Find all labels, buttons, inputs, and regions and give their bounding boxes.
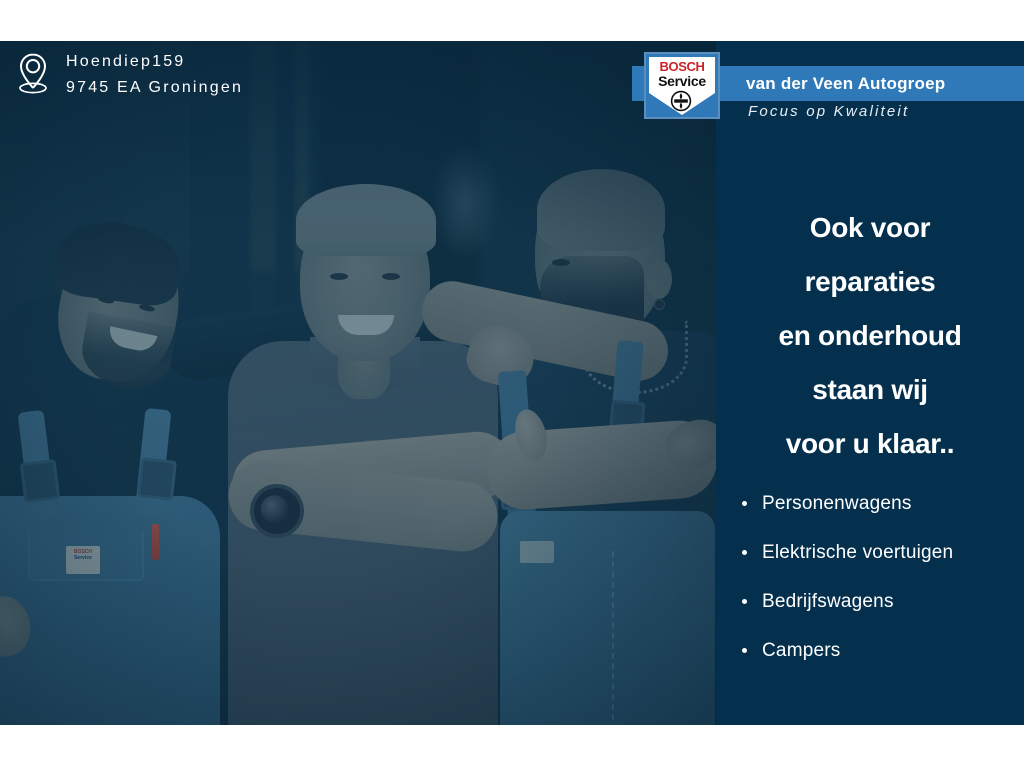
address-city: 9745 EA Groningen — [66, 75, 243, 101]
mechanic-right-overalls-seam — [612, 551, 614, 725]
mechanic-center-hair — [296, 184, 436, 256]
brand-tagline: Focus op Kwaliteit — [748, 103, 909, 120]
bosch-armature-icon — [670, 90, 692, 112]
company-name: van der Veen Autogroep — [746, 66, 945, 101]
address-block: Hoendiep159 9745 EA Groningen — [16, 49, 243, 101]
headline-line-3: en onderhoud — [716, 309, 1024, 363]
mechanic-right-eye — [552, 259, 570, 266]
headline-line-2: reparaties — [716, 255, 1024, 309]
mechanic-right-pocket-label — [520, 541, 554, 563]
headline-line-5: voor u klaar.. — [716, 417, 1024, 471]
mechanic-left-buckle-second — [137, 457, 177, 501]
bosch-service-patch-icon: BOSCHService — [66, 546, 100, 574]
mechanic-right-ear — [646, 259, 672, 299]
pen-icon — [152, 524, 159, 560]
mechanic-left-buckle — [20, 459, 61, 503]
mechanic-center-eye-second — [382, 273, 400, 280]
address-street: Hoendiep159 — [66, 49, 243, 75]
mechanic-center-eye — [330, 273, 348, 280]
list-item: Personenwagens — [740, 479, 1024, 528]
location-pin-icon — [16, 51, 50, 100]
bosch-service-wordmark: Service — [646, 73, 718, 89]
services-list: Personenwagens Elektrische voertuigen Be… — [740, 479, 1024, 675]
address-lines: Hoendiep159 9745 EA Groningen — [66, 49, 243, 101]
promo-headline: Ook voor reparaties en onderhoud staan w… — [716, 201, 1024, 471]
garage-light-glow — [430, 141, 500, 261]
earring-icon — [654, 299, 665, 310]
workshop-team-photo: BOSCHService van der Veen — [0, 41, 716, 725]
list-item: Bedrijfswagens — [740, 577, 1024, 626]
promo-panel: van der Veen Autogroep BOSCH Service Foc… — [716, 41, 1024, 725]
mechanic-right-scalp — [537, 169, 665, 251]
list-item: Elektrische voertuigen — [740, 528, 1024, 577]
advertisement-banner: BOSCHService van der Veen — [0, 41, 1024, 725]
headline-line-4: staan wij — [716, 363, 1024, 417]
headline-line-1: Ook voor — [716, 201, 1024, 255]
bosch-wordmark: BOSCH — [646, 59, 718, 74]
list-item: Campers — [740, 626, 1024, 675]
bosch-service-logo: BOSCH Service — [644, 52, 720, 119]
